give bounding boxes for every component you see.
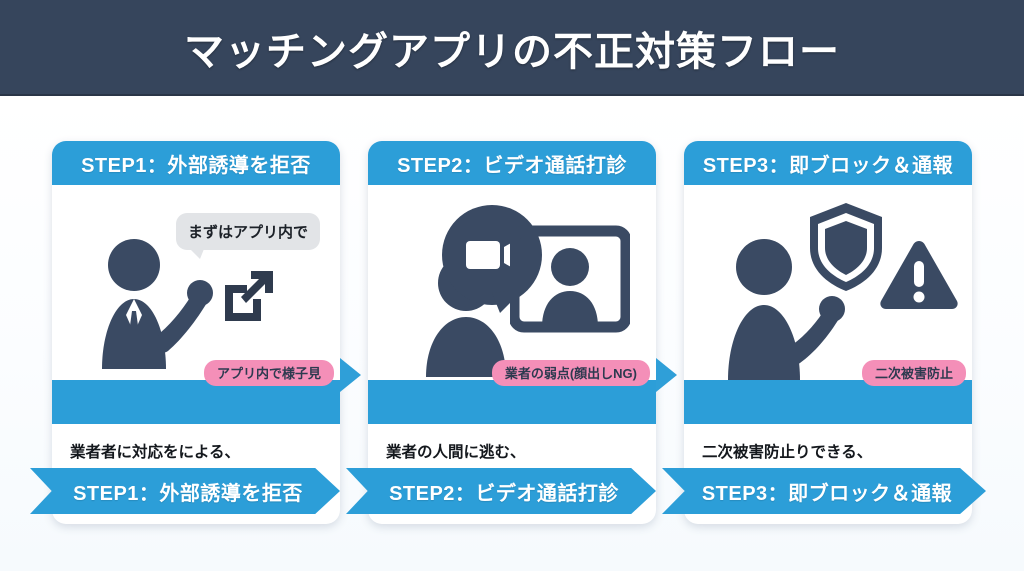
header-bar: マッチングアプリの不正対策フロー (0, 0, 1024, 96)
arrow-step1-to-step2 (340, 358, 361, 392)
person-suit-icon (82, 237, 232, 377)
step-card-1-badge: アプリ内で様子見 (204, 360, 334, 386)
step-card-2[interactable]: STEP2：ビデオ通話打診 (368, 141, 656, 524)
step-card-2-banner: STEP2：ビデオ通話打診 (368, 380, 656, 424)
page-title: マッチングアプリの不正対策フロー (184, 19, 840, 77)
step-card-3-body-line-1: 二次被害防止りできる、 (702, 440, 954, 465)
step-card-2-body-line-1: 業者の人間に逃む、 (386, 440, 638, 465)
step-card-1-header: STEP1：外部誘導を拒否 (52, 141, 340, 185)
step-banner-1[interactable]: STEP1：外部誘導を拒否 (30, 468, 340, 514)
step-card-1-header-label: STEP1：外部誘導を拒否 (81, 149, 311, 178)
step-banner-1-label: STEP1：外部誘導を拒否 (73, 477, 303, 506)
step-card-3-badge: 二次被害防止 (862, 360, 966, 386)
step-card-1-banner: STEP1：外部誘導を拒否 (52, 380, 340, 424)
step-card-3-header-label: STEP3：即ブロック＆通報 (703, 149, 953, 178)
warning-triangle-icon (877, 237, 961, 313)
step-card-2-illustration: 業者の弱点(顔出しNG) (368, 185, 656, 380)
external-link-icon (217, 265, 279, 327)
step-card-3-banner: STEP3：即ブロック＆通報 (684, 380, 972, 424)
shield-icon (806, 200, 886, 294)
step-banner-2-label: STEP2：ビデオ通話打診 (389, 477, 619, 506)
step-card-3-illustration: 二次被害防止 (684, 185, 972, 380)
content-area: STEP1：外部誘導を拒否 まずはアプリ内で (0, 96, 1024, 571)
step-card-2-header-label: STEP2：ビデオ通話打診 (397, 149, 627, 178)
step-banner-3[interactable]: STEP3：即ブロック＆通報 (662, 468, 986, 514)
step-card-2-badge: 業者の弱点(顔出しNG) (492, 360, 650, 386)
step-card-1[interactable]: STEP1：外部誘導を拒否 まずはアプリ内で (52, 141, 340, 524)
step-card-2-header: STEP2：ビデオ通話打診 (368, 141, 656, 185)
infographic-slide: マッチングアプリの不正対策フロー STEP1：外部誘導を拒否 まずはアプリ内で (0, 0, 1024, 571)
video-call-screen-icon (510, 225, 630, 337)
step-card-1-body-line-1: 業者者に対応をによる、 (70, 440, 322, 465)
step-banner-3-label: STEP3：即ブロック＆通報 (702, 477, 952, 506)
step-card-3[interactable]: STEP3：即ブロック＆通報 (684, 141, 972, 524)
step-banner-2[interactable]: STEP2：ビデオ通話打診 (346, 468, 656, 514)
step-card-3-header: STEP3：即ブロック＆通報 (684, 141, 972, 185)
step-card-1-illustration: まずはアプリ内で アプリ内で様子見 (52, 185, 340, 380)
arrow-step2-to-step3 (656, 358, 677, 392)
step-banner-strip: STEP1：外部誘導を拒否 STEP2：ビデオ通話打診 STEP3：即ブロック＆… (0, 468, 1024, 514)
